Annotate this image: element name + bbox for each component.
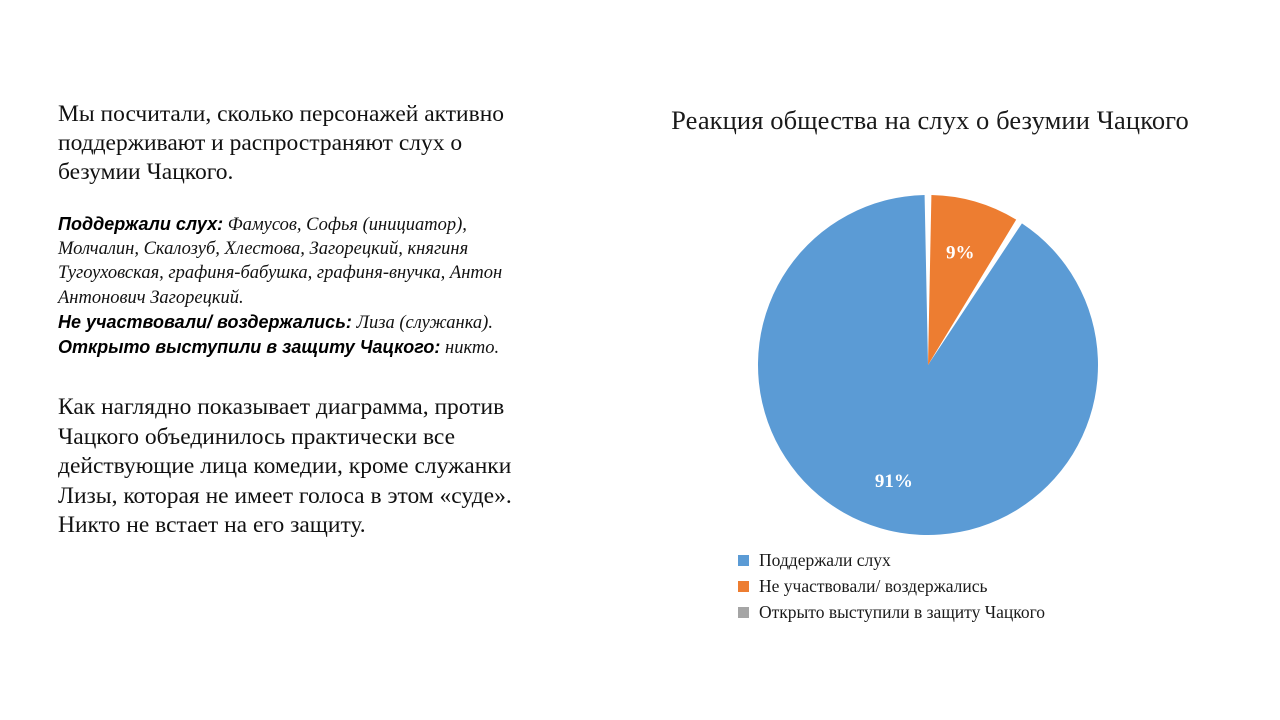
pie-svg: 91% 9% [755, 192, 1101, 538]
roster-item-abstained: Не участвовали/ воздержались: Лиза (служ… [58, 310, 538, 335]
legend-item-supported[interactable]: Поддержали слух [738, 548, 1208, 572]
roster-value-abstained: Лиза (служанка). [352, 313, 493, 333]
outro-paragraph: Как наглядно показывает диаграмма, проти… [58, 393, 538, 541]
legend-label-abstained: Не участвовали/ воздержались [759, 576, 987, 596]
legend-swatch-gray-icon [738, 607, 749, 618]
pie-slice-supported[interactable] [758, 195, 1098, 535]
legend-item-defended[interactable]: Открыто выступили в защиту Чацкого [738, 600, 1208, 624]
chart-legend: Поддержали слух Не участвовали/ воздержа… [738, 548, 1208, 626]
pie-label-supported: 91% [875, 471, 913, 492]
roster-item-defended: Открыто выступили в защиту Чацкого: никт… [58, 335, 538, 360]
pie-slices [758, 195, 1098, 535]
roster-value-defended: никто. [440, 338, 499, 358]
legend-label-defended: Открыто выступили в защиту Чацкого [759, 602, 1045, 622]
legend-item-abstained[interactable]: Не участвовали/ воздержались [738, 574, 1208, 598]
legend-label-supported: Поддержали слух [759, 550, 891, 570]
legend-swatch-blue-icon [738, 555, 749, 566]
character-roster: Поддержали слух: Фамусов, Софья (инициат… [58, 212, 538, 360]
roster-label-supported: Поддержали слух: [58, 214, 223, 234]
roster-item-supported: Поддержали слух: Фамусов, Софья (инициат… [58, 212, 538, 310]
text-column: Мы посчитали, сколько персонажей активно… [58, 100, 558, 541]
pie-label-abstained: 9% [946, 242, 975, 263]
intro-paragraph: Мы посчитали, сколько персонажей активно… [58, 100, 550, 187]
chart-title: Реакция общества на слух о безумии Чацко… [620, 104, 1240, 137]
roster-label-abstained: Не участвовали/ воздержались: [58, 312, 352, 332]
roster-label-defended: Открыто выступили в защиту Чацкого: [58, 337, 440, 357]
pie-plot-area: 91% 9% [755, 192, 1101, 538]
legend-swatch-orange-icon [738, 581, 749, 592]
pie-chart: Реакция общества на слух о безумии Чацко… [620, 96, 1240, 656]
presentation-slide: Мы посчитали, сколько персонажей активно… [0, 0, 1280, 720]
